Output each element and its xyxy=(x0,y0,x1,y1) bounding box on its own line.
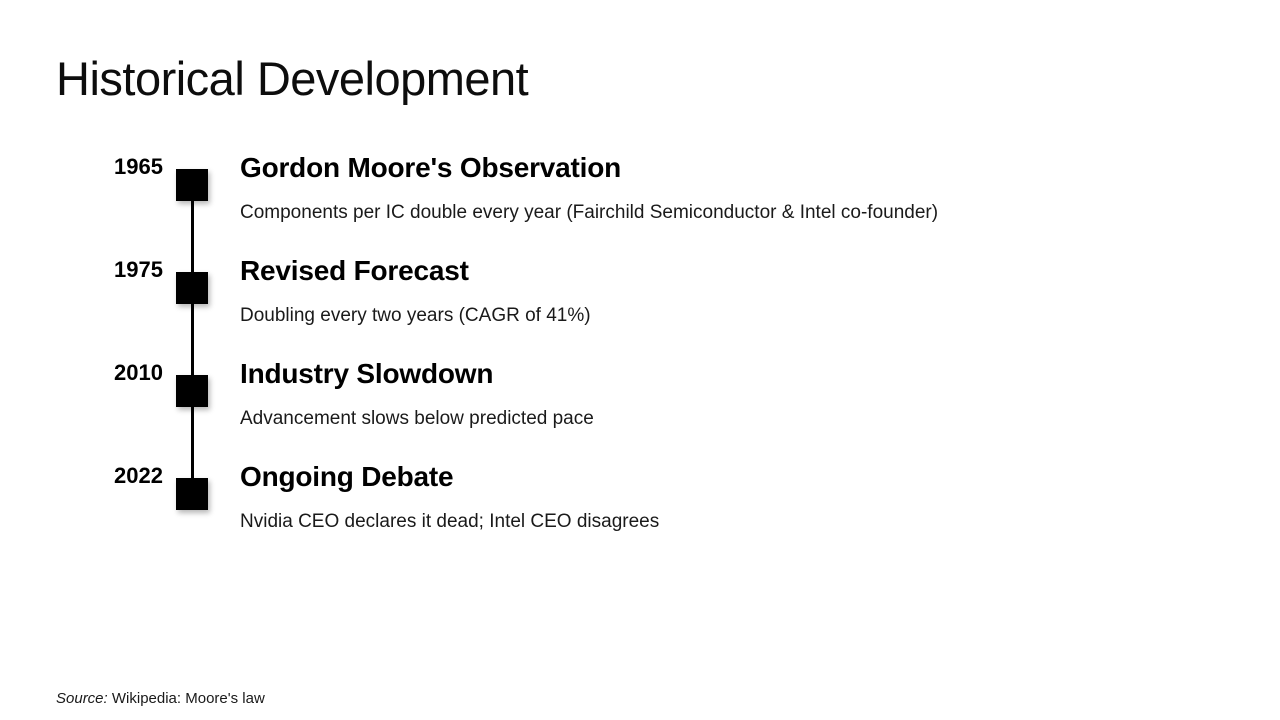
timeline-marker-square-icon xyxy=(176,169,208,201)
timeline-entry-description: Advancement slows below predicted pace xyxy=(240,407,1240,432)
source-text: Wikipedia: Moore's law xyxy=(112,690,265,707)
timeline-marker-square-icon xyxy=(176,272,208,304)
timeline-entry-content: Gordon Moore's Observation Components pe… xyxy=(240,150,1240,226)
timeline-entry-content: Ongoing Debate Nvidia CEO declares it de… xyxy=(240,459,1240,535)
timeline-entry-2010: 2010 Industry Slowdown Advancement slows… xyxy=(0,356,1280,459)
source-note: Source: Wikipedia: Moore's law xyxy=(56,690,265,707)
timeline: 1965 Gordon Moore's Observation Componen… xyxy=(0,150,1280,562)
timeline-year-label: 2010 xyxy=(24,360,163,386)
timeline-marker-square-icon xyxy=(176,375,208,407)
timeline-entry-content: Revised Forecast Doubling every two year… xyxy=(240,253,1240,329)
timeline-marker-square-icon xyxy=(176,478,208,510)
page-title: Historical Development xyxy=(56,52,528,106)
timeline-year-label: 1965 xyxy=(24,154,163,180)
timeline-entry-heading: Industry Slowdown xyxy=(240,356,1240,391)
timeline-entry-heading: Gordon Moore's Observation xyxy=(240,150,1240,185)
timeline-entry-heading: Revised Forecast xyxy=(240,253,1240,288)
slide: Historical Development 1965 Gordon Moore… xyxy=(0,0,1280,720)
timeline-entry-heading: Ongoing Debate xyxy=(240,459,1240,494)
timeline-entry-1965: 1965 Gordon Moore's Observation Componen… xyxy=(0,150,1280,253)
timeline-year-label: 2022 xyxy=(24,463,163,489)
timeline-entry-1975: 1975 Revised Forecast Doubling every two… xyxy=(0,253,1280,356)
timeline-entry-description: Doubling every two years (CAGR of 41%) xyxy=(240,304,1240,329)
timeline-entry-2022: 2022 Ongoing Debate Nvidia CEO declares … xyxy=(0,459,1280,562)
timeline-entry-description: Nvidia CEO declares it dead; Intel CEO d… xyxy=(240,510,1240,535)
timeline-entry-content: Industry Slowdown Advancement slows belo… xyxy=(240,356,1240,432)
timeline-entry-description: Components per IC double every year (Fai… xyxy=(240,201,1240,226)
timeline-year-label: 1975 xyxy=(24,257,163,283)
source-label: Source: xyxy=(56,690,108,707)
